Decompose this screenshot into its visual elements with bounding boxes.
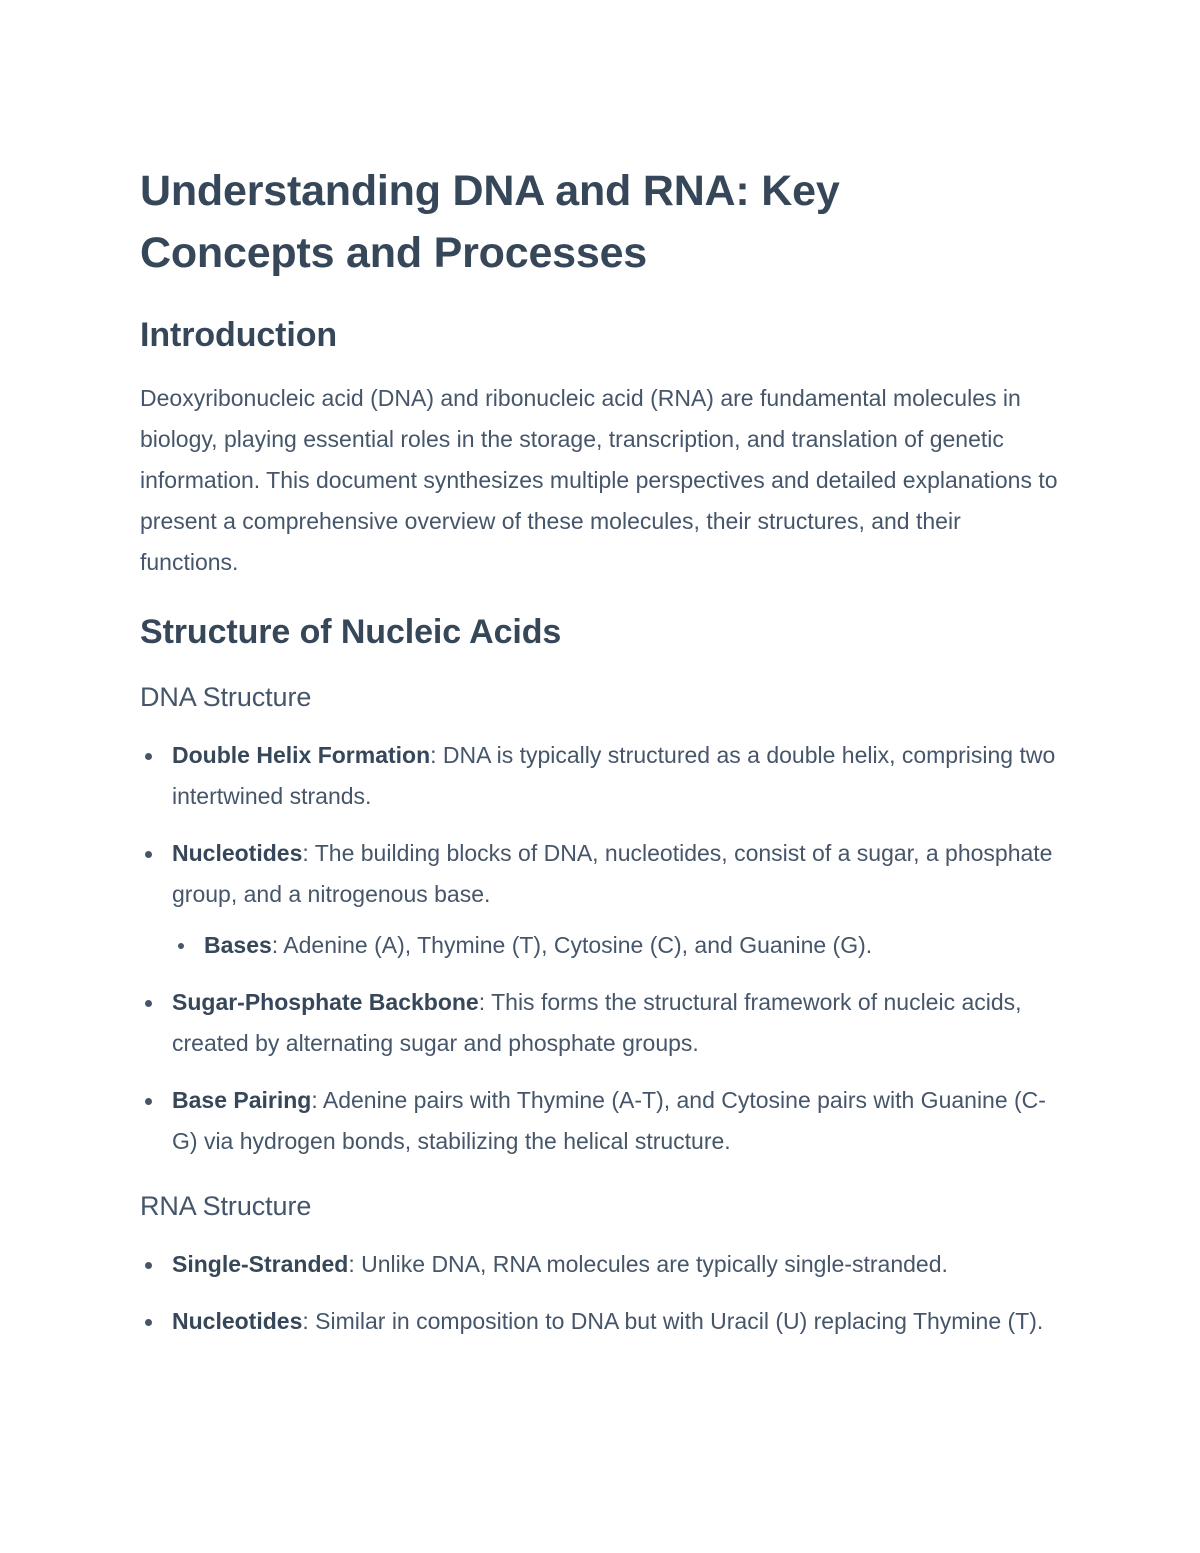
dna-structure-list: Double Helix Formation: DNA is typically… [140, 735, 1060, 1162]
list-item: Nucleotides: The building blocks of DNA,… [140, 833, 1060, 966]
list-item: Nucleotides: Similar in composition to D… [140, 1301, 1060, 1342]
heading-dna-structure: DNA Structure [140, 679, 1060, 715]
introduction-paragraph: Deoxyribonucleic acid (DNA) and ribonucl… [140, 378, 1060, 583]
document-page: Understanding DNA and RNA: Key Concepts … [0, 0, 1200, 1553]
bullet-term: Nucleotides [172, 840, 302, 866]
bullet-text: : Similar in composition to DNA but with… [302, 1308, 1043, 1334]
page-title: Understanding DNA and RNA: Key Concepts … [140, 160, 940, 284]
sub-bullet-term: Bases [204, 932, 272, 958]
list-item: Bases: Adenine (A), Thymine (T), Cytosin… [172, 925, 1060, 966]
bullet-term: Sugar-Phosphate Backbone [172, 989, 479, 1015]
bullet-text: : Unlike DNA, RNA molecules are typicall… [348, 1251, 948, 1277]
list-item: Single-Stranded: Unlike DNA, RNA molecul… [140, 1244, 1060, 1285]
rna-structure-list: Single-Stranded: Unlike DNA, RNA molecul… [140, 1244, 1060, 1342]
dna-bases-sub-list: Bases: Adenine (A), Thymine (T), Cytosin… [172, 925, 1060, 966]
sub-bullet-text: : Adenine (A), Thymine (T), Cytosine (C)… [272, 932, 872, 958]
list-item: Base Pairing: Adenine pairs with Thymine… [140, 1080, 1060, 1162]
bullet-text: : The building blocks of DNA, nucleotide… [172, 840, 1052, 907]
document-body: Understanding DNA and RNA: Key Concepts … [140, 160, 1060, 1342]
heading-introduction: Introduction [140, 314, 1060, 356]
bullet-term: Nucleotides [172, 1308, 302, 1334]
heading-structure-of-nucleic-acids: Structure of Nucleic Acids [140, 611, 1060, 653]
bullet-term: Double Helix Formation [172, 742, 430, 768]
list-item: Sugar-Phosphate Backbone: This forms the… [140, 982, 1060, 1064]
heading-rna-structure: RNA Structure [140, 1188, 1060, 1224]
bullet-term: Base Pairing [172, 1087, 311, 1113]
list-item: Double Helix Formation: DNA is typically… [140, 735, 1060, 817]
bullet-term: Single-Stranded [172, 1251, 348, 1277]
